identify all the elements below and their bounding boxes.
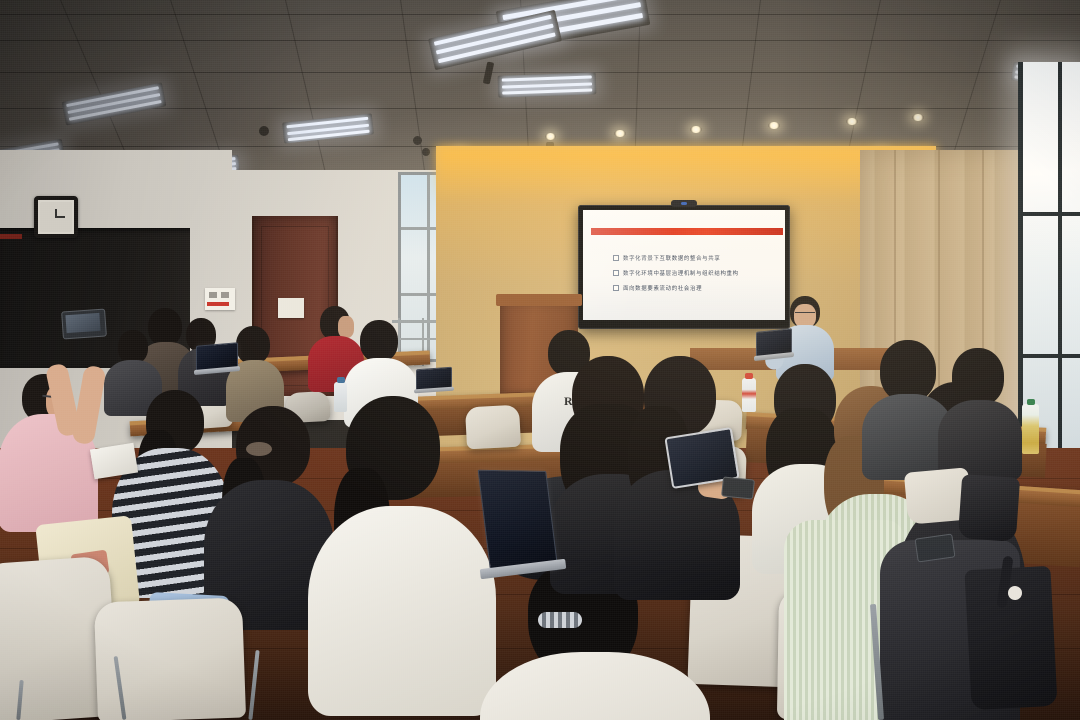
smartphone[interactable] [721, 476, 755, 499]
head [880, 340, 936, 402]
bag [958, 474, 1020, 542]
head [118, 330, 148, 364]
room-sign [205, 288, 235, 310]
face [338, 316, 354, 338]
head [148, 308, 182, 346]
drink-bottle [1022, 404, 1039, 454]
drink-bottle [742, 378, 756, 412]
head [236, 326, 270, 364]
lecture-hall-photo: 数字化背景下互联数据的整合与共享 数字化环境中基层治理机制与组织结构重构 面向数… [0, 0, 1080, 720]
hair-tie [246, 442, 272, 456]
presentation-display[interactable]: 数字化背景下互联数据的整合与共享 数字化环境中基层治理机制与组织结构重构 面向数… [578, 205, 790, 329]
door-notice [278, 298, 304, 318]
head [360, 320, 398, 362]
glasses-icon [795, 312, 815, 318]
hair-clip [538, 612, 582, 628]
drink-bottle [334, 382, 347, 412]
video-camera-icon [671, 200, 697, 207]
chair [465, 405, 521, 450]
phone-screen [65, 313, 100, 333]
wall-clock [34, 196, 78, 238]
torso [308, 506, 496, 716]
slide-content: 数字化背景下互联数据的整合与共享 数字化环境中基层治理机制与组织结构重构 面向数… [583, 210, 785, 320]
backpack-tag [1008, 586, 1022, 600]
head [952, 348, 1004, 406]
